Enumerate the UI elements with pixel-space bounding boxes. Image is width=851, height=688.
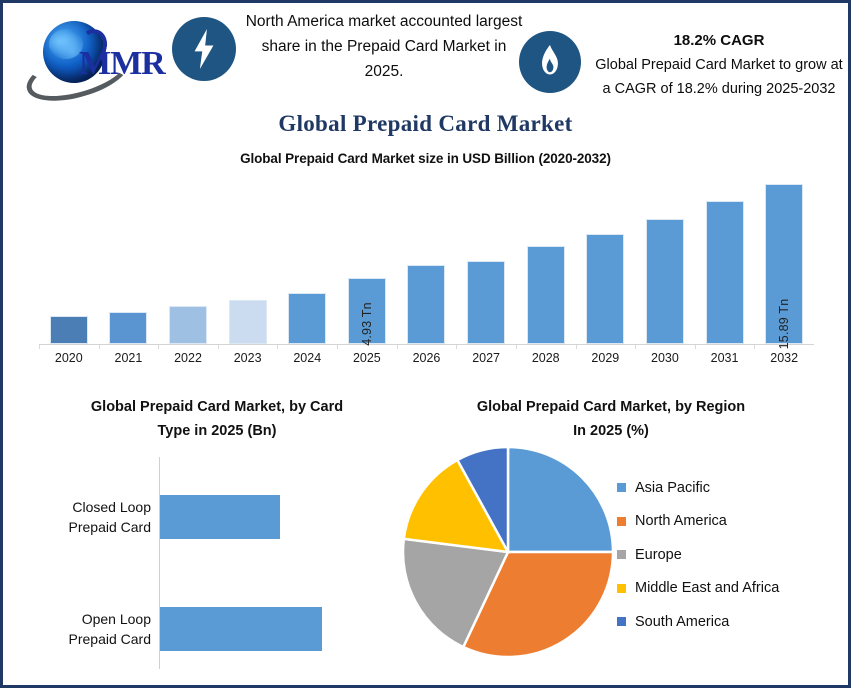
bar-column: 2020 <box>39 175 99 345</box>
bar-category-label: 2022 <box>158 351 218 365</box>
bar-category-label: 2026 <box>397 351 457 365</box>
bar-2028 <box>527 246 565 344</box>
legend-swatch <box>617 584 626 593</box>
bar-2023 <box>229 300 267 344</box>
bar-column: 2026 <box>397 175 457 345</box>
legend-item: South America <box>617 605 847 639</box>
bar-2031 <box>706 201 744 344</box>
card-type-label-line: Prepaid Card <box>17 629 151 649</box>
pie-legend: Asia PacificNorth AmericaEuropeMiddle Ea… <box>617 471 847 639</box>
axis-tick <box>695 345 696 349</box>
axis-tick <box>635 345 636 349</box>
region-chart-title-line1: Global Prepaid Card Market, by Region <box>401 395 821 419</box>
bar-category-label: 2028 <box>516 351 576 365</box>
legend-item: North America <box>617 505 847 539</box>
bar-2026 <box>407 265 445 344</box>
axis-tick <box>218 345 219 349</box>
page-title: Global Prepaid Card Market <box>3 111 848 137</box>
card-type-chart-plot: Closed LoopPrepaid CardOpen LoopPrepaid … <box>17 457 417 669</box>
lightning-bolt-icon <box>172 17 236 81</box>
card-type-chart-title: Global Prepaid Card Market, by Card Type… <box>17 395 417 443</box>
axis-tick <box>754 345 755 349</box>
bar-2032: 15.89 Tn <box>765 184 803 344</box>
legend-label: Asia Pacific <box>635 480 710 496</box>
axis-tick <box>277 345 278 349</box>
cagr-description: Global Prepaid Card Market to grow at a … <box>591 53 847 101</box>
card-type-chart-title-line1: Global Prepaid Card Market, by Card <box>17 395 417 419</box>
region-chart-title: Global Prepaid Card Market, by Region In… <box>401 395 821 443</box>
cagr-value: 18.2% CAGR <box>591 29 847 53</box>
region-pie-chart: Global Prepaid Card Market, by Region In… <box>401 395 849 685</box>
legend-swatch <box>617 617 626 626</box>
card-type-label-line: Prepaid Card <box>17 517 151 537</box>
bar-category-label: 2029 <box>576 351 636 365</box>
axis-tick <box>337 345 338 349</box>
region-chart-title-line2: In 2025 (%) <box>401 419 821 443</box>
legend-label: Middle East and Africa <box>635 580 779 596</box>
legend-item: Europe <box>617 538 847 572</box>
bar-2024 <box>288 293 326 344</box>
bar-category-label: 2025 <box>337 351 397 365</box>
card-type-label-line: Closed Loop <box>17 497 151 517</box>
bar-column: 2028 <box>516 175 576 345</box>
bar-column: 2031 <box>695 175 755 345</box>
card-type-bar <box>160 495 280 539</box>
bar-value-label: 4.93 Tn <box>360 302 374 346</box>
header-callout-right: 18.2% CAGR Global Prepaid Card Market to… <box>591 29 847 101</box>
card-type-label-line: Open Loop <box>17 609 151 629</box>
legend-item: Middle East and Africa <box>617 572 847 606</box>
legend-swatch <box>617 550 626 559</box>
axis-tick <box>516 345 517 349</box>
bar-2022 <box>169 306 207 344</box>
header-band: MMR North America market accounted large… <box>3 3 848 121</box>
mmr-logo: MMR <box>17 15 167 93</box>
bar-chart-title: Global Prepaid Card Market size in USD B… <box>3 151 848 166</box>
bar-category-label: 2031 <box>695 351 755 365</box>
bar-column: 2022 <box>158 175 218 345</box>
flame-icon <box>519 31 581 93</box>
bar-column: 2021 <box>99 175 159 345</box>
axis-tick <box>456 345 457 349</box>
pie-svg <box>401 445 616 660</box>
axis-tick <box>397 345 398 349</box>
infographic-frame: MMR North America market accounted large… <box>0 0 851 688</box>
bar-column: 2029 <box>576 175 636 345</box>
legend-swatch <box>617 483 626 492</box>
bar-chart: Global Prepaid Card Market size in USD B… <box>3 151 848 381</box>
bar-column: 2030 <box>635 175 695 345</box>
bar-2029 <box>586 234 624 344</box>
card-type-label: Open LoopPrepaid Card <box>17 609 151 649</box>
bar-column: 2027 <box>456 175 516 345</box>
logo-text: MMR <box>79 45 165 83</box>
bar-category-label: 2027 <box>456 351 516 365</box>
bar-2025: 4.93 Tn <box>348 278 386 344</box>
legend-label: South America <box>635 614 729 630</box>
axis-tick <box>39 345 40 349</box>
bar-category-label: 2020 <box>39 351 99 365</box>
bar-value-label: 15.89 Tn <box>777 299 791 350</box>
bar-category-label: 2021 <box>99 351 159 365</box>
axis-tick <box>158 345 159 349</box>
legend-swatch <box>617 517 626 526</box>
bar-chart-plot: 202020212022202320244.93 Tn2025202620272… <box>39 175 814 345</box>
bar-category-label: 2023 <box>218 351 278 365</box>
header-callout-left: North America market accounted largest s… <box>243 9 525 84</box>
bar-column: 2024 <box>277 175 337 345</box>
bar-2020 <box>50 316 88 344</box>
card-type-bar-chart: Global Prepaid Card Market, by Card Type… <box>17 395 417 685</box>
pie-slice-asia-pacific <box>508 447 613 552</box>
legend-item: Asia Pacific <box>617 471 847 505</box>
bar-category-label: 2032 <box>754 351 814 365</box>
pie-graphic <box>401 445 616 660</box>
axis-tick <box>576 345 577 349</box>
bar-2030 <box>646 219 684 344</box>
bar-2027 <box>467 261 505 345</box>
bar-column: 15.89 Tn2032 <box>754 175 814 345</box>
legend-label: North America <box>635 513 727 529</box>
card-type-label: Closed LoopPrepaid Card <box>17 497 151 537</box>
bar-2021 <box>109 312 147 344</box>
axis-tick <box>99 345 100 349</box>
card-type-bar <box>160 607 322 651</box>
bar-category-label: 2030 <box>635 351 695 365</box>
bar-column: 4.93 Tn2025 <box>337 175 397 345</box>
legend-label: Europe <box>635 547 682 563</box>
bar-column: 2023 <box>218 175 278 345</box>
bar-category-label: 2024 <box>277 351 337 365</box>
card-type-chart-title-line2: Type in 2025 (Bn) <box>17 419 417 443</box>
